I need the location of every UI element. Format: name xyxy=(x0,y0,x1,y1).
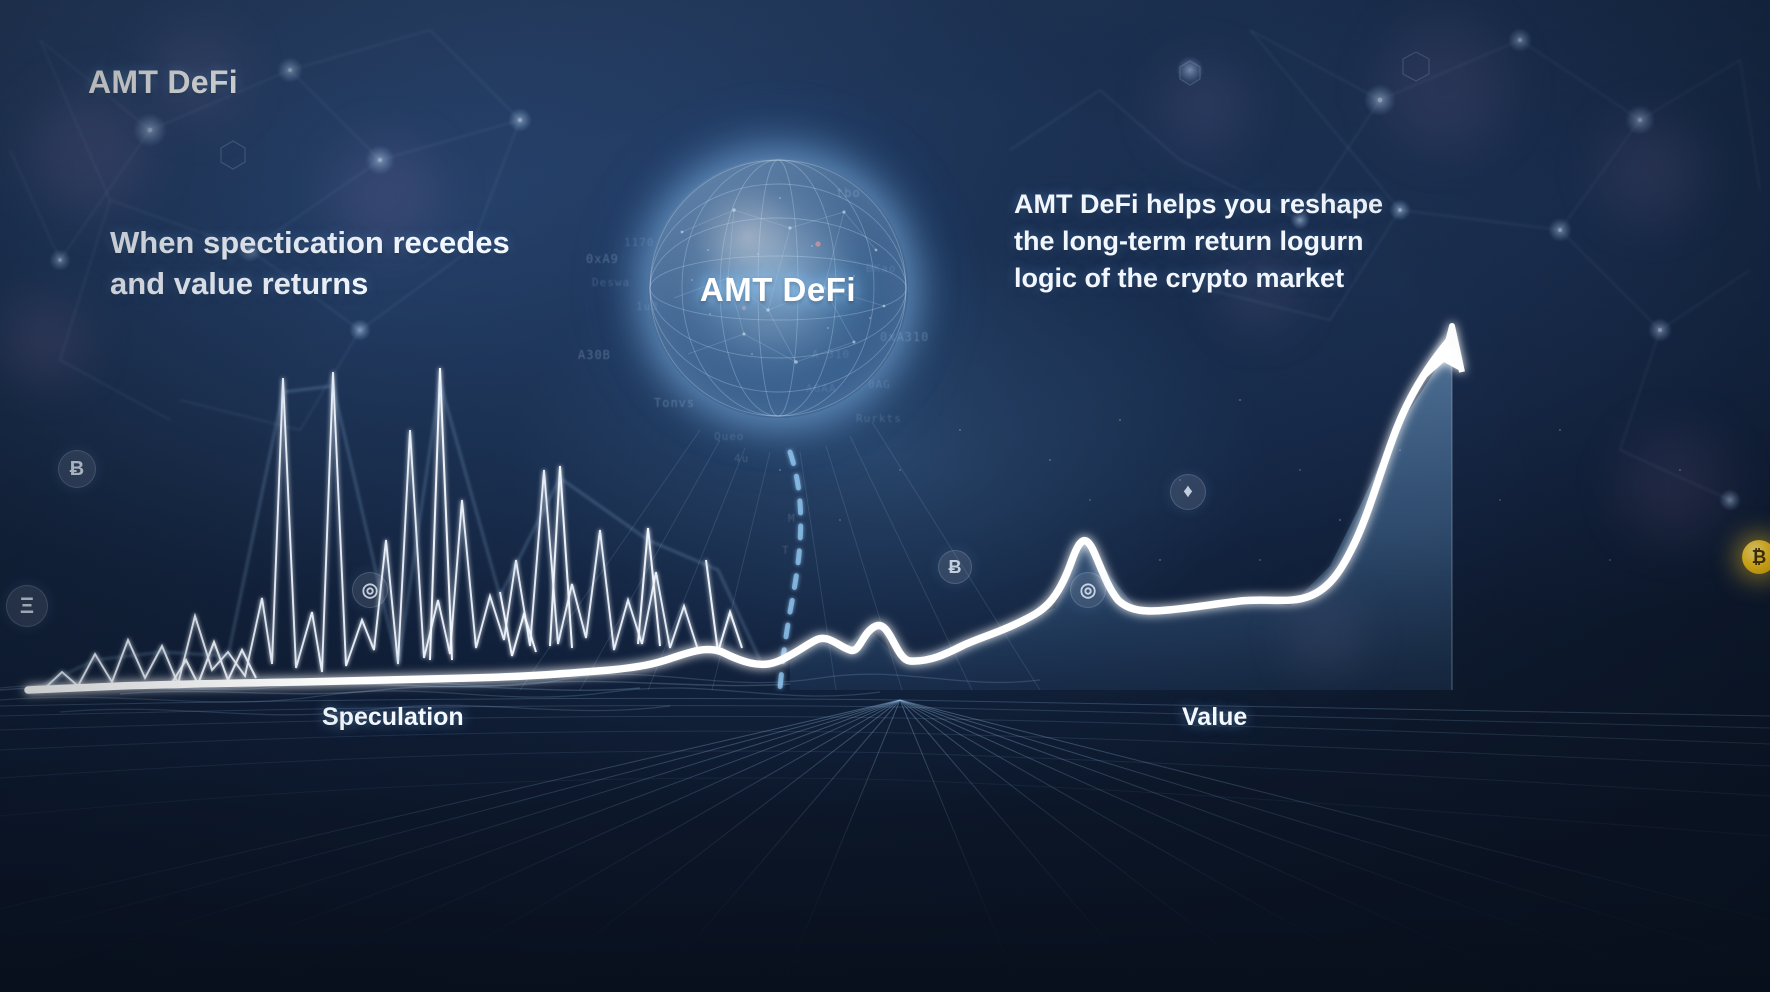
infographic-canvas: 0xA9 Deswa A30B 1170 1u3 Tonvs Queo 4u t… xyxy=(0,0,1770,992)
gold-coin-token-icon: ₿ xyxy=(1742,540,1770,574)
crypto-token-layer: ɃΞ◎Ƀ♦◎₿ xyxy=(0,0,1770,992)
generic-token-mid-icon: ◎ xyxy=(352,572,388,608)
generic-token-right-icon: ◎ xyxy=(1070,572,1106,608)
bitcoin-token-left-icon: Ƀ xyxy=(58,450,96,488)
ethereum-token-right-icon: ♦ xyxy=(1170,474,1206,510)
ethereum-token-left-icon: Ξ xyxy=(6,585,48,627)
bitcoin-token-mid-icon: Ƀ xyxy=(938,550,972,584)
